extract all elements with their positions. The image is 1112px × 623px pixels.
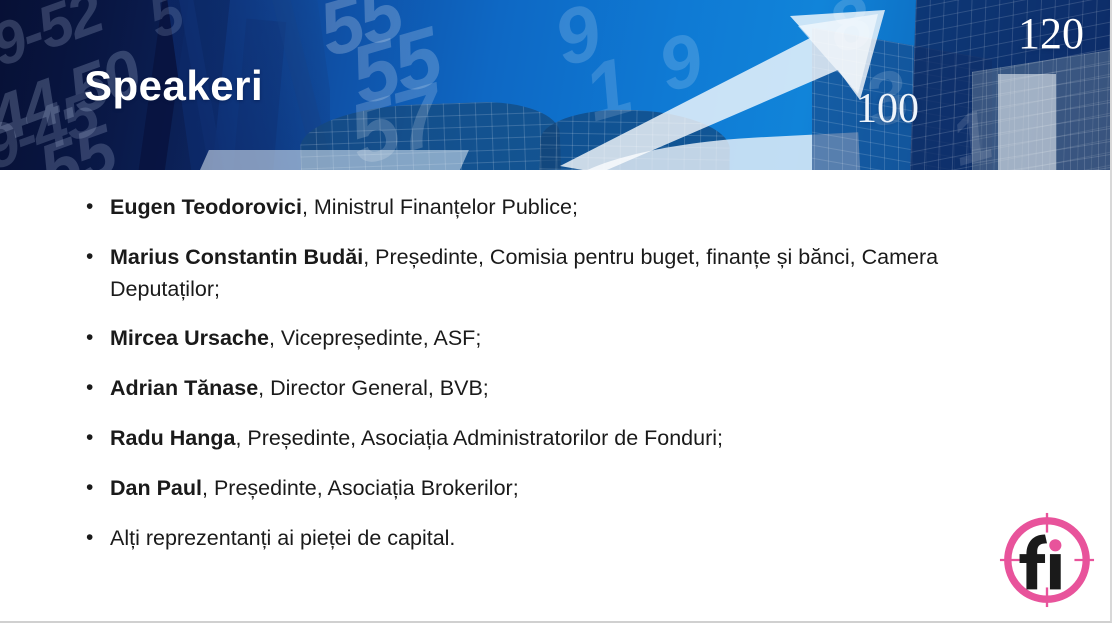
rising-arrow-icon	[560, 8, 890, 170]
list-item: Dan Paul, Președinte, Asociația Brokeril…	[84, 473, 1010, 505]
list-item: Radu Hanga, Președinte, Asociația Admini…	[84, 423, 1010, 455]
speaker-role: , Vicepreședinte, ASF;	[269, 326, 481, 350]
list-item: Mircea Ursache, Vicepreședinte, ASF;	[84, 323, 1010, 355]
speaker-name: Marius Constantin Budăi	[110, 245, 363, 269]
list-item: Adrian Tănase, Director General, BVB;	[84, 373, 1010, 405]
speaker-name: Eugen Teodorovici	[110, 195, 302, 219]
speaker-list: Eugen Teodorovici, Ministrul Finanțelor …	[0, 170, 1112, 555]
list-item: Eugen Teodorovici, Ministrul Finanțelor …	[84, 192, 1010, 224]
pale-building-block	[998, 74, 1056, 170]
speaker-role: , Președinte, Asociația Brokerilor;	[202, 476, 519, 500]
fi-logo	[998, 511, 1096, 609]
slide-body: Eugen Teodorovici, Ministrul Finanțelor …	[0, 170, 1112, 573]
logo-letter-f	[1020, 535, 1047, 590]
presentation-slide: 9-52 44.50 9-45 55 5 55 55 57 9 9 1 8 3 …	[0, 0, 1112, 623]
logo-letter-i-dot	[1049, 539, 1061, 551]
speaker-role: Alți reprezentanți ai pieței de capital.	[110, 526, 455, 550]
speaker-role: , Președinte, Asociația Administratorilo…	[235, 426, 723, 450]
speaker-name: Radu Hanga	[110, 426, 235, 450]
list-item: Marius Constantin Budăi, Președinte, Com…	[84, 242, 1010, 306]
speaker-role: , Ministrul Finanțelor Publice;	[302, 195, 578, 219]
slide-header-banner: 9-52 44.50 9-45 55 5 55 55 57 9 9 1 8 3 …	[0, 0, 1112, 170]
banner-number-120: 120	[1018, 12, 1084, 56]
logo-letter-i-stem	[1050, 554, 1061, 589]
speaker-name: Adrian Tănase	[110, 376, 258, 400]
list-item: Alți reprezentanți ai pieței de capital.	[84, 523, 1010, 555]
speaker-name: Mircea Ursache	[110, 326, 269, 350]
banner-number-100: 100	[856, 88, 919, 130]
page-title: Speakeri	[84, 62, 263, 110]
speaker-name: Dan Paul	[110, 476, 202, 500]
speaker-role: , Director General, BVB;	[258, 376, 489, 400]
